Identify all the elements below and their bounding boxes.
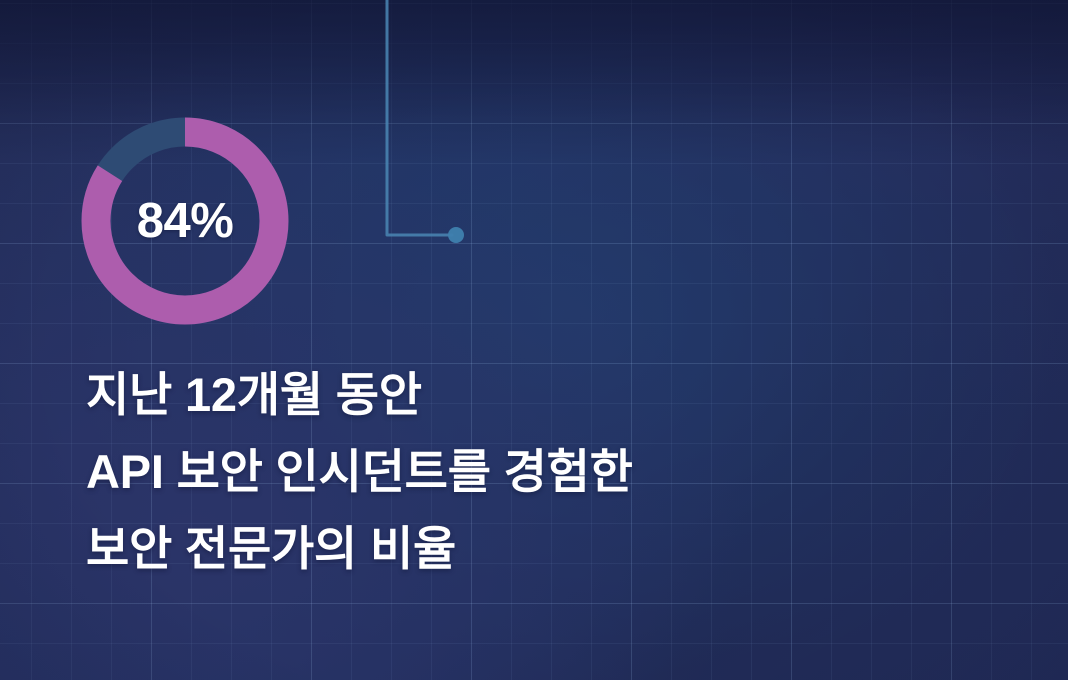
donut-center-value: 84%	[73, 109, 297, 333]
donut-chart: 84%	[73, 109, 297, 333]
headline-line-1: 지난 12개월 동안	[86, 356, 986, 433]
stat-card: 84% 지난 12개월 동안 API 보안 인시던트를 경험한 보안 전문가의 …	[0, 0, 1068, 680]
headline-line-2: API 보안 인시던트를 경험한	[86, 433, 986, 510]
headline: 지난 12개월 동안 API 보안 인시던트를 경험한 보안 전문가의 비율	[86, 356, 986, 587]
headline-line-3: 보안 전문가의 비율	[86, 510, 986, 587]
